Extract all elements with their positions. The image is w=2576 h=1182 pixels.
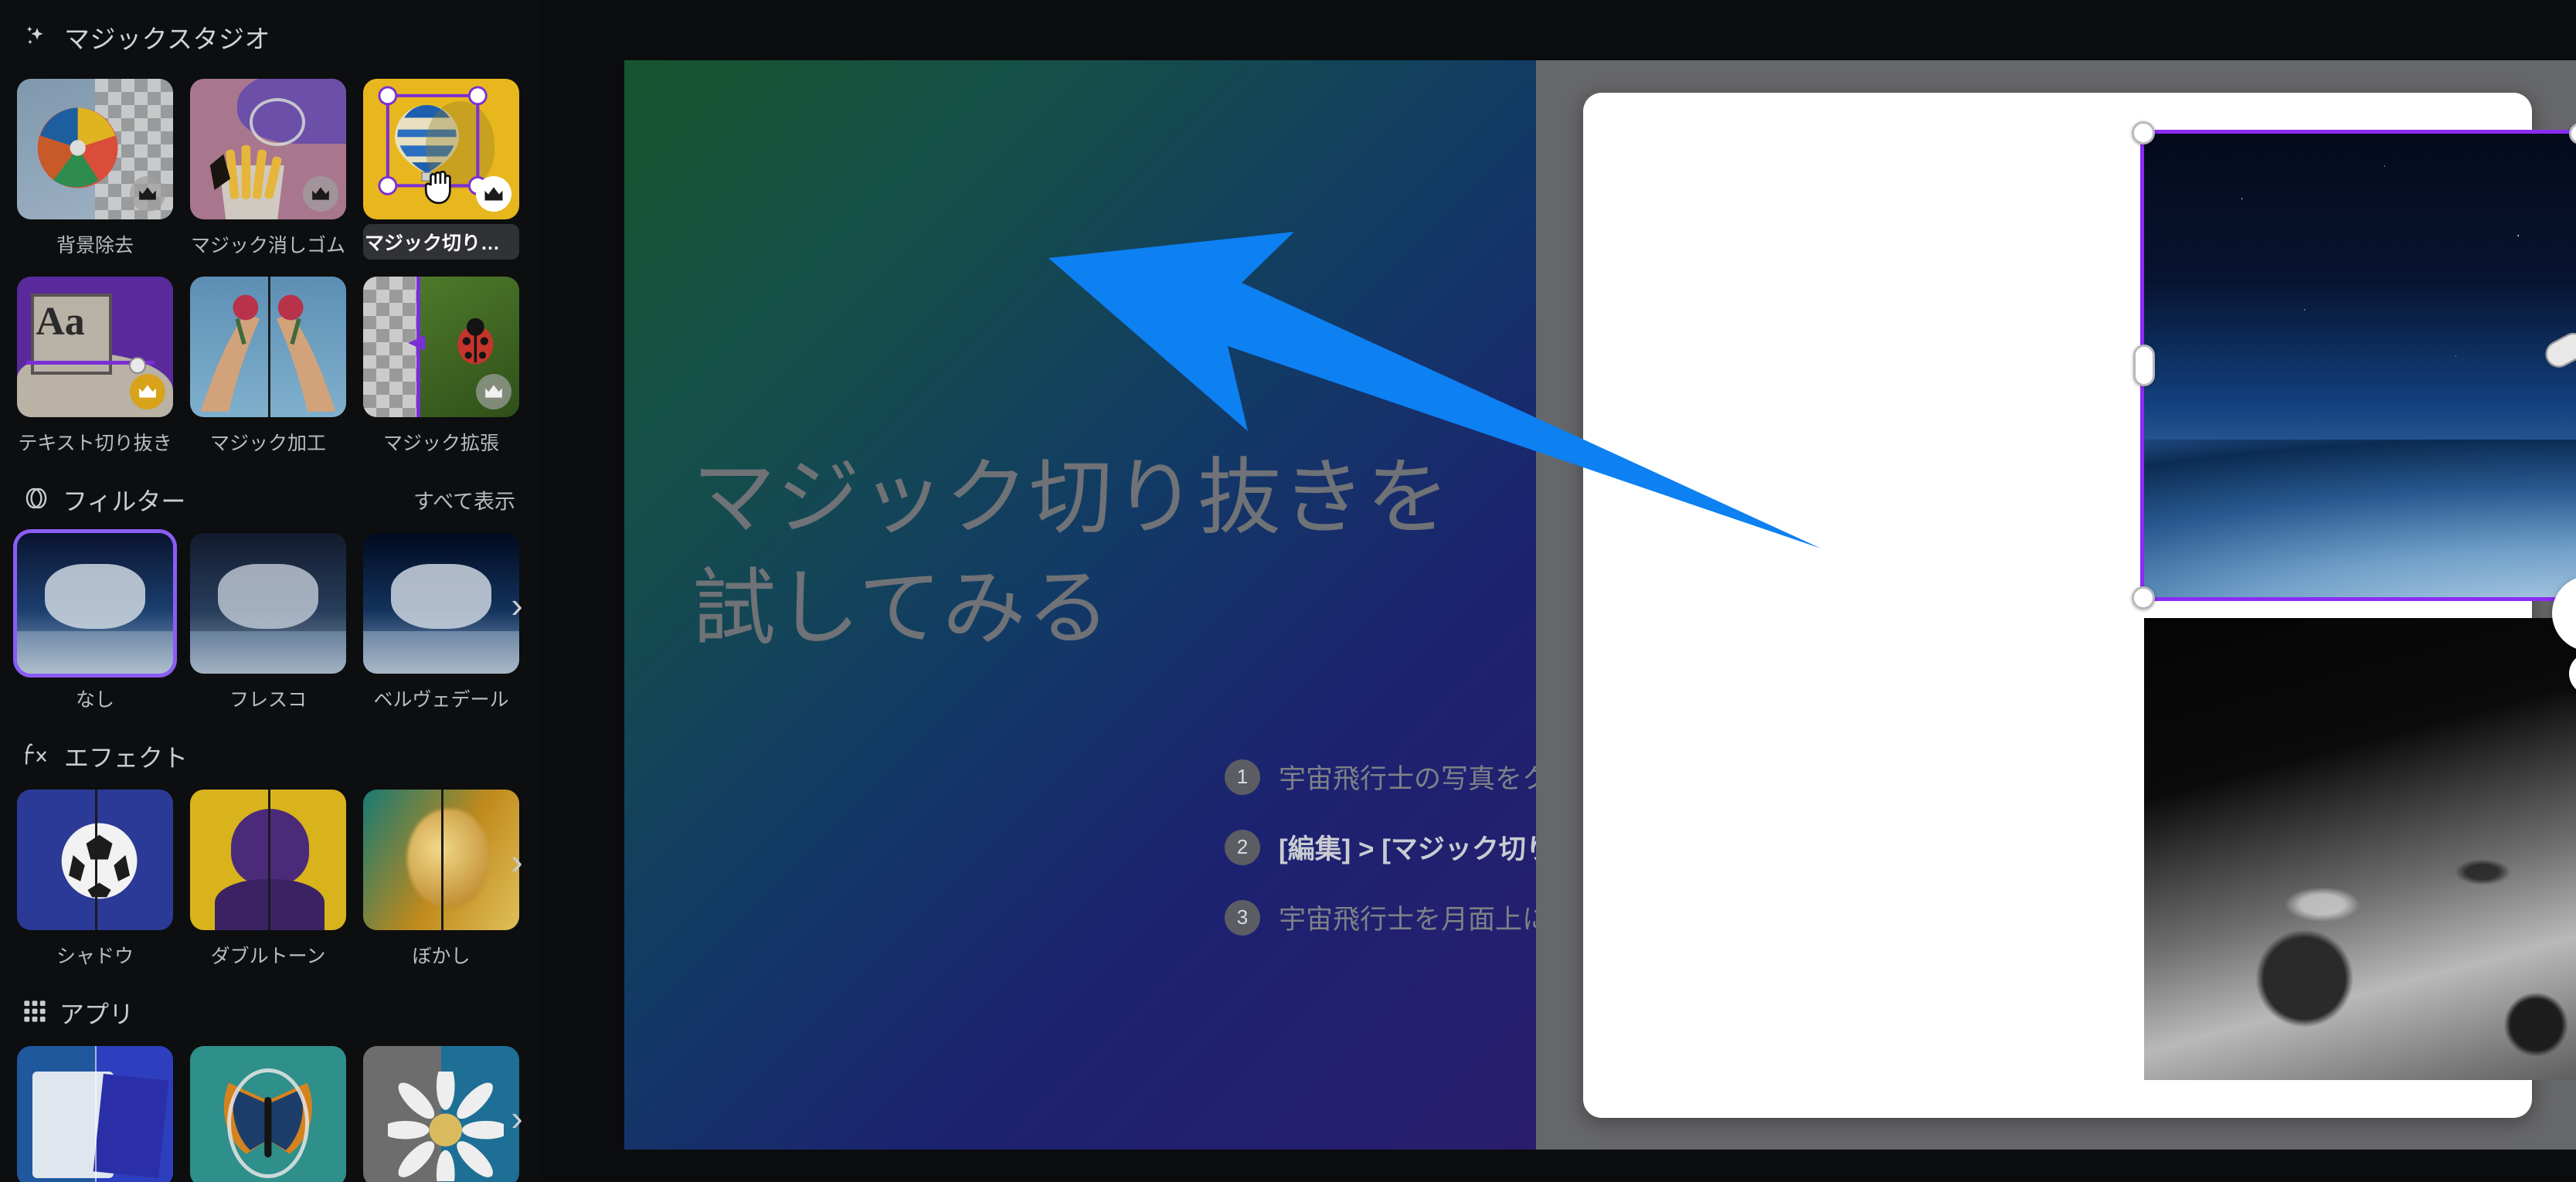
tool-tile-magic-expand[interactable]: マジック拡張 (363, 277, 519, 456)
filters-section-header: フィルター すべて表示 (0, 467, 539, 533)
premium-crown-icon (130, 374, 165, 409)
filter-thumbnail (363, 533, 519, 674)
effects-section-header: エフェクト (0, 723, 539, 790)
filter-tile-belvedere[interactable]: ベルヴェデール (363, 533, 519, 712)
app-thumbnail (363, 1046, 519, 1182)
tool-thumbnail: Aa (17, 277, 173, 417)
tool-label: マジック切り抜き (363, 224, 519, 260)
editor-canvas: マジック切り抜きを 試してみる 1 宇宙飛行士の写真をクリックして選択します 2… (539, 0, 2576, 1182)
tool-thumbnail (190, 79, 346, 219)
apps-title: アプリ (59, 995, 134, 1031)
filter-thumbnail (190, 533, 346, 674)
app-tile-3[interactable] (363, 1046, 519, 1182)
step-number-badge: 2 (1225, 830, 1260, 865)
moon-surface-image[interactable] (2144, 618, 2576, 1080)
filter-label: フレスコ (190, 684, 346, 712)
magic-studio-header: マジックスタジオ (0, 0, 539, 74)
effect-tile-shadow[interactable]: シャドウ (17, 790, 173, 969)
effect-label: ぼかし (363, 941, 519, 969)
tool-tile-background-remove[interactable]: 背景除去 (17, 79, 173, 260)
filters-show-all-link[interactable]: すべて表示 (413, 485, 515, 515)
filter-tile-fresco[interactable]: フレスコ (190, 533, 346, 712)
resize-handle-top-left[interactable] (2132, 121, 2155, 144)
effects-next-chevron-icon[interactable]: › (500, 844, 534, 879)
fx-icon (23, 742, 51, 772)
premium-crown-icon (303, 176, 338, 212)
crater-texture (2144, 618, 2576, 1080)
tool-label: テキスト切り抜き (17, 428, 173, 456)
premium-crown-icon (476, 176, 511, 212)
tool-tile-magic-eraser[interactable]: マジック消しゴム (190, 79, 346, 260)
astronaut-figure (2518, 171, 2576, 532)
filter-label: なし (17, 684, 173, 712)
slide-title-line-1: マジック切り抜きを (692, 450, 1450, 544)
effect-thumbnail (17, 790, 173, 930)
filters-next-chevron-icon[interactable]: › (500, 587, 534, 623)
premium-crown-icon (130, 176, 165, 212)
earth-horizon (2144, 440, 2576, 597)
magic-tools-row-1: 背景除去 (0, 79, 539, 260)
panel-title: マジックスタジオ (64, 19, 270, 56)
tool-thumbnail (363, 277, 519, 417)
effect-tile-blur[interactable]: ぼかし (363, 790, 519, 969)
app-thumbnail (190, 1046, 346, 1182)
tool-tile-magic-cutout[interactable]: マジック切り抜き (363, 79, 519, 260)
effects-title: エフェクト (64, 739, 188, 774)
effects-row: シャドウ ダブルトーン ぼかし › (0, 790, 539, 969)
step-number-badge: 1 (1225, 759, 1260, 795)
sparkle-icon (23, 22, 51, 53)
slide-title-line-2: 試してみる (692, 561, 1111, 654)
step-number-badge: 3 (1225, 900, 1260, 936)
filter-icon (23, 485, 49, 515)
resize-handle-middle-left[interactable] (2133, 345, 2155, 386)
grid-icon (23, 1000, 46, 1027)
effect-thumbnail (190, 790, 346, 930)
effect-label: ダブルトーン (190, 941, 346, 969)
magic-tools-row-2: Aa テキスト切り抜き (0, 277, 539, 456)
effect-tile-duotone[interactable]: ダブルトーン (190, 790, 346, 969)
filters-title: フィルター (63, 482, 185, 518)
tool-thumbnail (17, 79, 173, 219)
resize-handle-bottom-left[interactable] (2132, 586, 2155, 610)
app-thumbnail (17, 1046, 173, 1182)
app-tile-2[interactable] (190, 1046, 346, 1182)
slide-left-panel[interactable]: マジック切り抜きを 試してみる (624, 60, 1536, 1150)
effect-label: シャドウ (17, 941, 173, 969)
effect-thumbnail (363, 790, 519, 930)
app-tile-1[interactable] (17, 1046, 173, 1182)
tool-label: 背景除去 (17, 230, 173, 258)
magic-studio-sidebar: マジックスタジオ (0, 0, 539, 1182)
filter-tile-none[interactable]: なし (17, 533, 173, 712)
tool-thumbnail (190, 277, 346, 417)
tool-label: マジック加工 (190, 428, 346, 456)
filter-label: ベルヴェデール (363, 684, 519, 712)
astronaut-image[interactable] (2144, 134, 2576, 597)
apps-section-header: アプリ (0, 980, 539, 1046)
tool-tile-text-cutout[interactable]: Aa テキスト切り抜き (17, 277, 173, 456)
tool-thumbnail (363, 79, 519, 219)
tool-label: マジック消しゴム (190, 230, 346, 258)
premium-crown-icon (476, 374, 511, 409)
tool-label: マジック拡張 (363, 428, 519, 456)
hand-cursor-icon (423, 166, 461, 208)
apps-next-chevron-icon[interactable]: › (500, 1100, 534, 1136)
slide-title: マジック切り抜きを 試してみる (692, 443, 1450, 663)
apps-row: › (0, 1046, 539, 1182)
application-window: マジックスタジオ (0, 0, 2576, 1182)
filter-thumbnail (17, 533, 173, 674)
filters-row: なし フレスコ ベルヴェデール › (0, 533, 539, 712)
tool-tile-magic-edit[interactable]: マジック加工 (190, 277, 346, 456)
